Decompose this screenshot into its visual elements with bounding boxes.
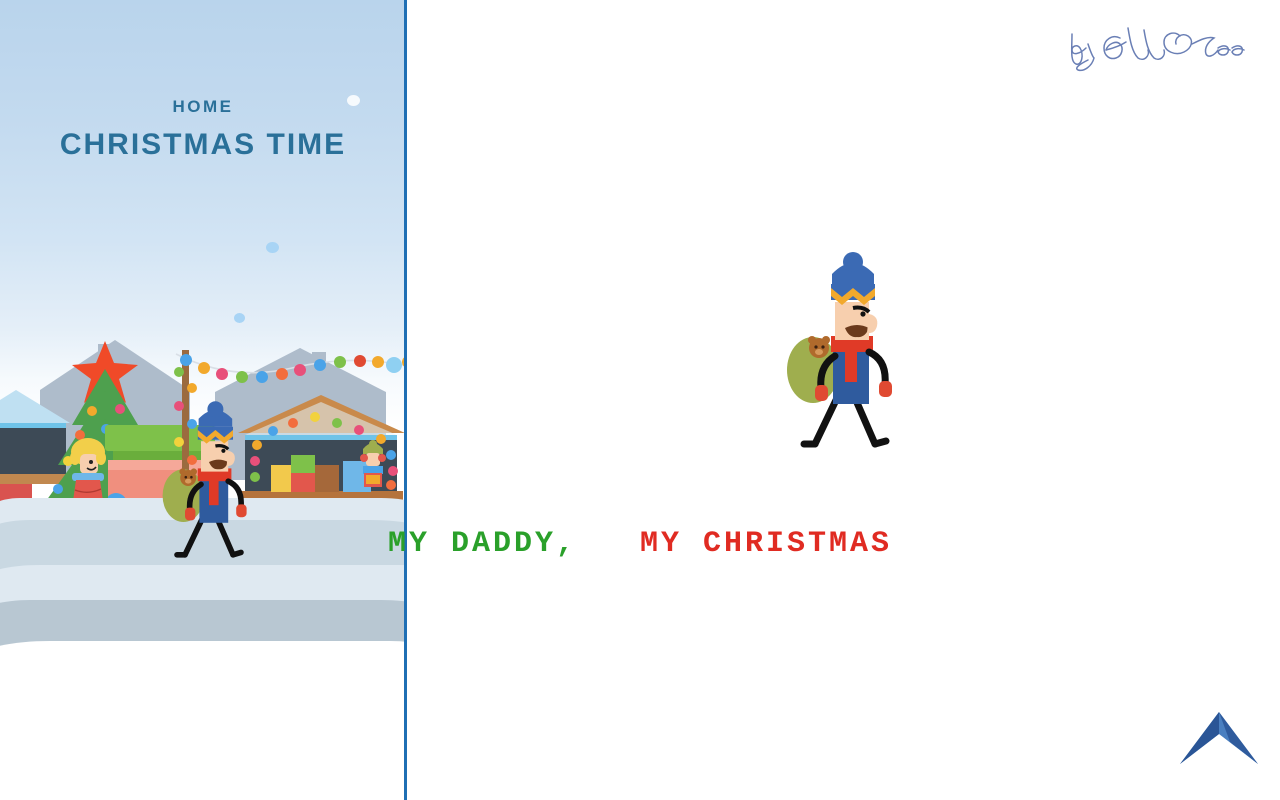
snowflake <box>266 242 279 253</box>
page-root: HOME CHRISTMAS TIME <box>0 0 1280 800</box>
page-title: CHRISTMAS TIME <box>0 128 406 162</box>
artist-signature <box>1062 14 1252 78</box>
snowflake <box>234 313 245 323</box>
panel-divider <box>404 0 407 800</box>
caption-part-two: MY CHRISTMAS <box>640 527 892 561</box>
caption: MY DADDY, MY CHRISTMAS <box>0 527 1280 561</box>
daddy-character-scene <box>153 398 273 598</box>
chevron-arrow-logo[interactable] <box>1176 704 1262 770</box>
daddy-character-main <box>775 248 925 498</box>
snow-band <box>0 641 406 800</box>
left-illustration-panel: HOME CHRISTMAS TIME <box>0 0 406 800</box>
caption-part-one: MY DADDY, <box>388 527 577 561</box>
breadcrumb-home[interactable]: HOME <box>0 97 406 117</box>
